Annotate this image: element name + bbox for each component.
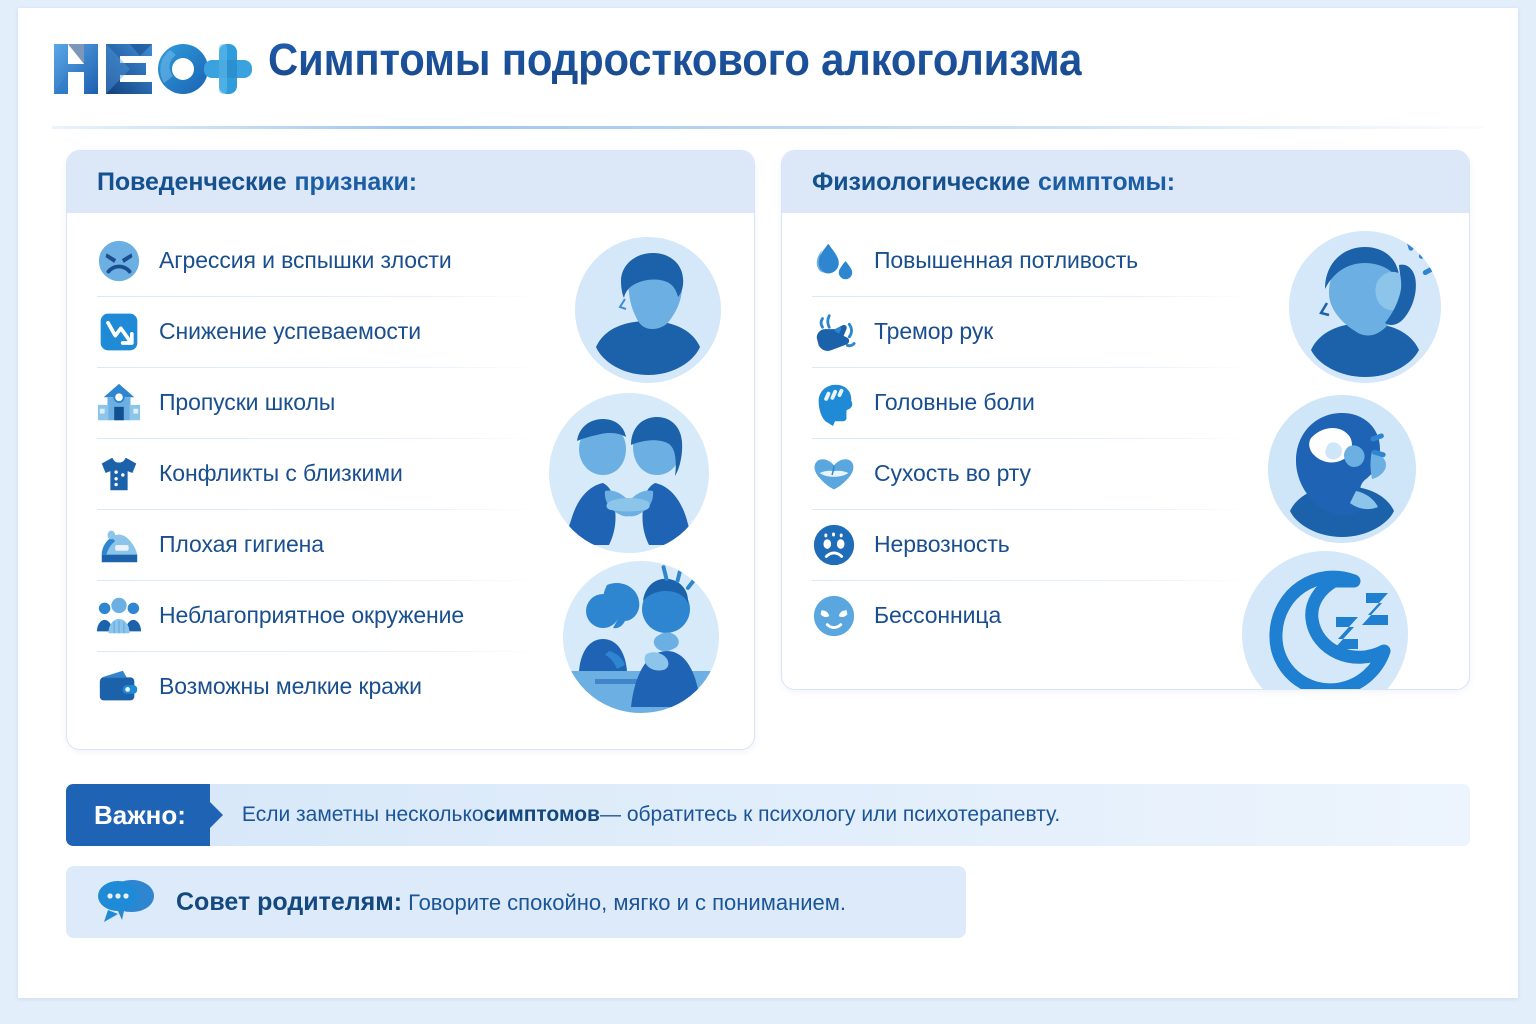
panel-behavioral-title-normal: признаки: xyxy=(295,168,417,197)
advice-text: Совет родителям: Говорите спокойно, мягк… xyxy=(176,888,846,917)
list-item-label: Пропуски школы xyxy=(159,389,335,416)
list-item[interactable]: Нервозность xyxy=(806,509,1441,580)
infographic-canvas: Симптомы подросткового алкоголизма Повед… xyxy=(0,0,1536,1024)
wallet-icon xyxy=(91,661,147,713)
list-item[interactable]: Возможны мелкие кражи xyxy=(91,651,726,722)
list-item-label: Агрессия и вспышки злости xyxy=(159,247,452,274)
advice-banner: Совет родителям: Говорите спокойно, мягк… xyxy=(66,866,966,938)
school-building-icon xyxy=(91,377,147,429)
list-item-label: Сухость во рту xyxy=(874,460,1031,487)
list-item[interactable]: Повышенная потливость xyxy=(806,225,1441,296)
list-item[interactable]: Сухость во рту xyxy=(806,438,1441,509)
list-item-label: Неблагоприятное окружение xyxy=(159,602,464,629)
sweat-drops-icon xyxy=(806,235,862,287)
panel-behavioral-body: Агрессия и вспышки злости Снижение усп xyxy=(67,213,754,722)
list-item-label: Бессонница xyxy=(874,602,1001,629)
list-item-label: Возможны мелкие кражи xyxy=(159,673,422,700)
neo-plus-logo xyxy=(52,38,262,100)
list-item-label: Повышенная потливость xyxy=(874,247,1138,274)
important-banner: Важно: Если заметны несколько симптомов … xyxy=(66,784,1470,846)
page-title: Симптомы подросткового алкоголизма xyxy=(268,34,1082,86)
panel-physiological-header: Физиологические симптомы: xyxy=(782,151,1469,213)
page-header: Симптомы подросткового алкоголизма xyxy=(52,32,1484,128)
physiological-item-list: Повышенная потливость xyxy=(782,225,1469,651)
panel-physiological: Физиологические симптомы: xyxy=(781,150,1470,690)
behavioral-item-list: Агрессия и вспышки злости Снижение усп xyxy=(67,225,754,722)
tshirt-icon xyxy=(91,448,147,500)
list-item[interactable]: Снижение успеваемости xyxy=(91,296,726,367)
angry-face-icon xyxy=(91,235,147,287)
list-item[interactable]: Тремор рук xyxy=(806,296,1441,367)
panel-physiological-title-normal: симптомы: xyxy=(1038,168,1175,197)
list-item[interactable]: Бессонница xyxy=(806,580,1441,651)
downward-chart-icon xyxy=(91,306,147,358)
list-item[interactable]: Пропуски школы xyxy=(91,367,726,438)
list-item-label: Плохая гигиена xyxy=(159,531,324,558)
advice-body: Говорите спокойно, мягко и с пониманием. xyxy=(402,890,846,915)
list-item-label: Снижение успеваемости xyxy=(159,318,421,345)
header-divider xyxy=(52,126,1484,129)
list-item[interactable]: Конфликты с близкими xyxy=(91,438,726,509)
tired-face-icon xyxy=(806,590,862,642)
dry-lips-icon xyxy=(806,448,862,500)
list-item[interactable]: Головные боли xyxy=(806,367,1441,438)
important-text-after: — обратитесь к психологу или психотерапе… xyxy=(600,803,1060,827)
list-item[interactable]: Плохая гигиена xyxy=(91,509,726,580)
panel-behavioral: Поведенческие признаки: xyxy=(66,150,755,750)
soap-bottle-icon xyxy=(91,519,147,571)
infographic-sheet: Симптомы подросткового алкоголизма Повед… xyxy=(18,8,1518,998)
list-item-label: Головные боли xyxy=(874,389,1035,416)
important-text: Если заметны несколько симптомов — обрат… xyxy=(210,784,1060,846)
panel-behavioral-title-bold: Поведенческие xyxy=(97,168,287,197)
important-text-before: Если заметны несколько xyxy=(242,803,484,827)
list-item-label: Нервозность xyxy=(874,531,1010,558)
list-item-label: Тремор рук xyxy=(874,318,993,345)
list-item-label: Конфликты с близкими xyxy=(159,460,403,487)
panel-physiological-title-bold: Физиологические xyxy=(812,168,1030,197)
nervous-face-icon xyxy=(806,519,862,571)
panel-physiological-body: Повышенная потливость xyxy=(782,213,1469,651)
list-item[interactable]: Неблагоприятное окружение xyxy=(91,580,726,651)
advice-label: Совет родителям: xyxy=(176,888,402,916)
group-of-people-icon xyxy=(91,590,147,642)
important-text-bold: симптомов xyxy=(484,803,600,827)
panel-behavioral-header: Поведенческие признаки: xyxy=(67,151,754,213)
shaking-hand-icon xyxy=(806,306,862,358)
list-item[interactable]: Агрессия и вспышки злости xyxy=(91,225,726,296)
important-tag: Важно: xyxy=(66,784,210,846)
speech-bubbles-icon xyxy=(92,874,170,930)
head-pain-icon xyxy=(806,377,862,429)
panels-container: Поведенческие признаки: xyxy=(66,150,1470,750)
